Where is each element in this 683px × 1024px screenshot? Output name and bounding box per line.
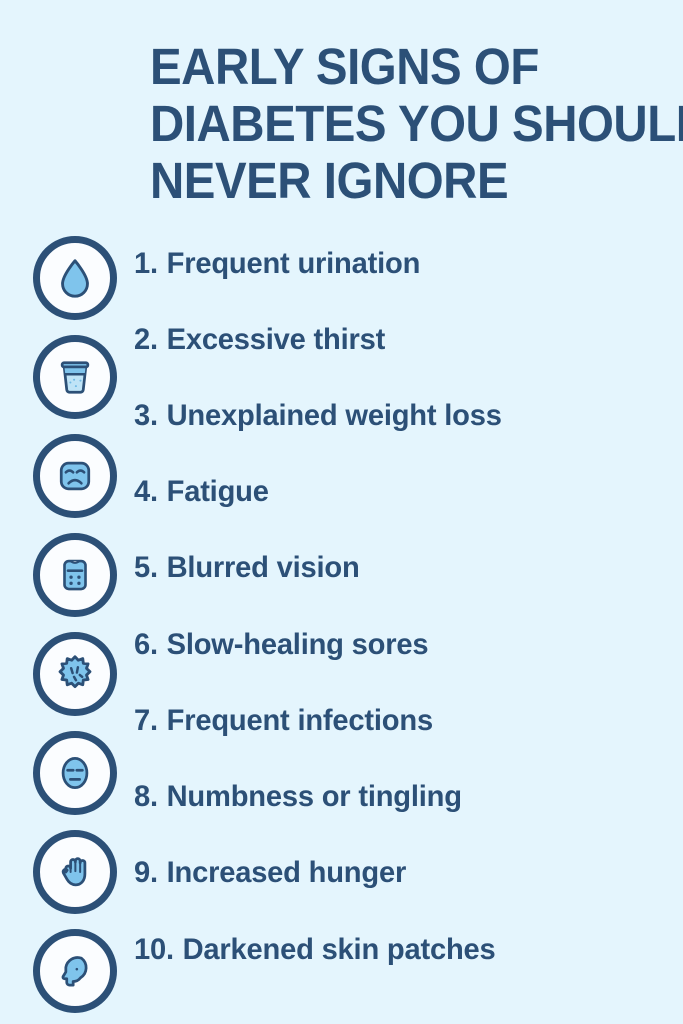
list-item-number: 7.	[134, 704, 158, 738]
list-item: 2. Excessive thirst	[134, 319, 385, 361]
list-item: 6. Slow-healing sores	[134, 624, 428, 666]
list-item-label: Increased hunger	[167, 856, 406, 890]
icon-badge-2	[33, 335, 117, 419]
icon-badge-3	[33, 434, 117, 518]
hand-icon	[53, 850, 97, 894]
list-item-number: 2.	[134, 323, 158, 357]
list-item-label: Frequent urination	[167, 247, 421, 281]
list-item-label: Fatigue	[167, 475, 269, 509]
list-item-number: 4.	[134, 475, 158, 509]
list-item-label: Frequent infections	[167, 704, 433, 738]
tired-face-icon	[53, 454, 97, 498]
list-item: 4. Fatigue	[134, 471, 269, 513]
head-profile-icon	[53, 949, 97, 993]
list-item-label: Blurred vision	[167, 551, 360, 585]
list-item-number: 10.	[134, 933, 174, 967]
title-line-1: EARLY SIGNS OF	[150, 38, 646, 95]
title-line-3: NEVER IGNORE	[150, 152, 646, 209]
list-item-label: Numbness or tingling	[167, 780, 462, 814]
icon-badge-7	[33, 830, 117, 914]
list-item: 8. Numbness or tingling	[134, 776, 462, 818]
list-item-number: 9.	[134, 856, 158, 890]
page-title: EARLY SIGNS OF DIABETES YOU SHOULD NEVER…	[150, 38, 646, 209]
infographic-poster: EARLY SIGNS OF DIABETES YOU SHOULD NEVER…	[0, 0, 683, 1024]
water-drop-icon	[52, 255, 98, 301]
list-item-number: 3.	[134, 399, 158, 433]
icon-badge-1	[33, 236, 117, 320]
title-line-2: DIABETES YOU SHOULD	[150, 95, 646, 152]
neutral-face-icon	[53, 751, 97, 795]
drinking-glass-icon	[53, 355, 97, 399]
list-item-number: 1.	[134, 247, 158, 281]
icon-badge-5	[33, 632, 117, 716]
list-item-label: Unexplained weight loss	[167, 399, 502, 433]
list-item-label: Slow-healing sores	[167, 628, 429, 662]
list-item-number: 8.	[134, 780, 158, 814]
icon-badge-4	[33, 533, 117, 617]
list-item: 5. Blurred vision	[134, 547, 360, 589]
list-item: 1. Frequent urination	[134, 243, 420, 285]
list-item-label: Darkened skin patches	[183, 933, 496, 967]
list-item: 3. Unexplained weight loss	[134, 395, 502, 437]
glucose-meter-icon	[54, 554, 96, 596]
list-item-number: 6.	[134, 628, 158, 662]
germ-icon	[52, 651, 98, 697]
icon-badge-6	[33, 731, 117, 815]
list-item: 9. Increased hunger	[134, 852, 406, 894]
icon-badge-8	[33, 929, 117, 1013]
list-item: 10. Darkened skin patches	[134, 929, 496, 971]
list-item-label: Excessive thirst	[167, 323, 386, 357]
list-item: 7. Frequent infections	[134, 700, 433, 742]
list-item-number: 5.	[134, 551, 158, 585]
